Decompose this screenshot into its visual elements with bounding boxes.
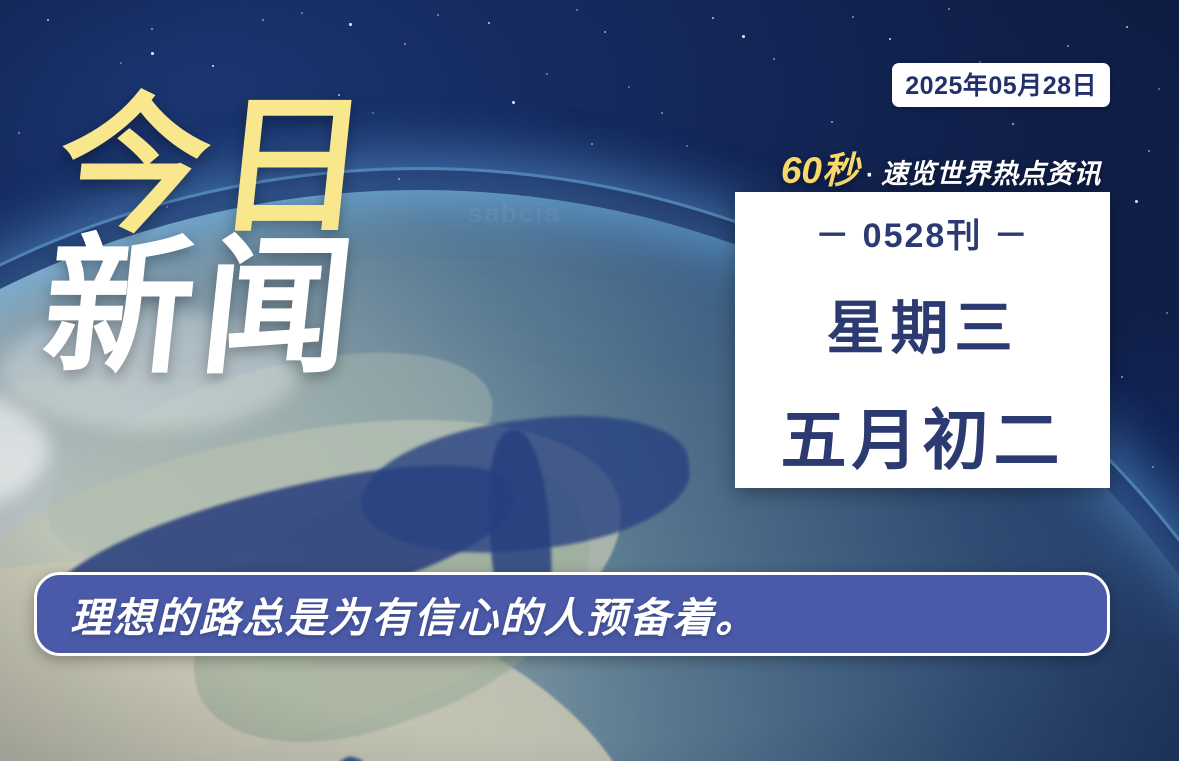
issue-number: － 0528刊 － — [815, 208, 1030, 257]
watermark-text: sabcia — [468, 198, 561, 229]
page-title-line-2: 新闻 — [37, 237, 368, 378]
issue-info-card: － 0528刊 － 星期三 五月初二 — [735, 192, 1110, 488]
news-poster: sabcia 今日 新闻 2025年05月28日 60秒 · 速览世界热点资讯 … — [0, 0, 1179, 761]
lunar-date-label: 五月初二 — [781, 387, 1065, 483]
quote-bar: 理想的路总是为有信心的人预备着。 — [34, 572, 1110, 656]
tagline-seconds: 60秒 — [781, 140, 859, 194]
date-badge: 2025年05月28日 — [892, 63, 1110, 107]
weekday-label: 星期三 — [826, 281, 1018, 365]
page-title: 今日 新闻 — [37, 96, 383, 378]
tagline: 60秒 · 速览世界热点资讯 — [781, 140, 1101, 194]
tagline-text: 速览世界热点资讯 — [881, 152, 1101, 191]
tagline-separator-icon: · — [866, 162, 874, 190]
page-title-line-1: 今日 — [52, 96, 383, 237]
quote-text: 理想的路总是为有信心的人预备着。 — [70, 584, 758, 644]
